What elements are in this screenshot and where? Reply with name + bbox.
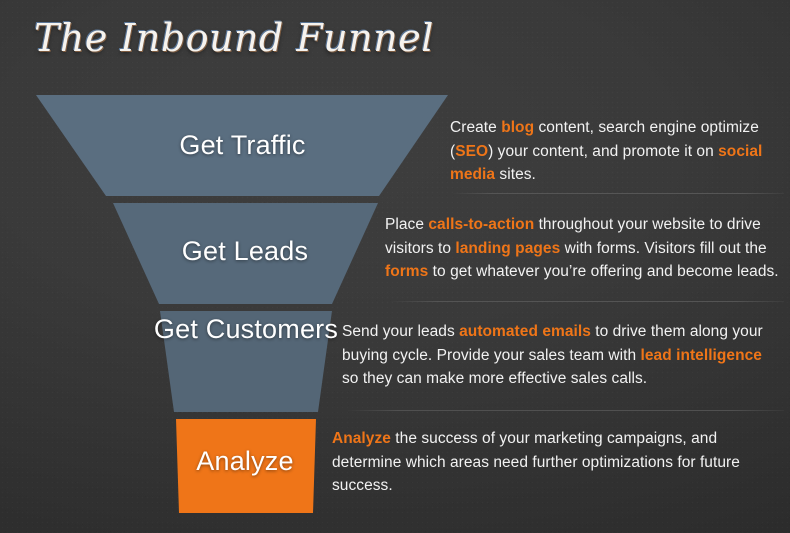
description-get-customers: Send your leads automated emails to driv…: [342, 320, 782, 391]
emphasis-term: landing pages: [455, 240, 560, 257]
description-divider-1: [452, 193, 784, 194]
funnel-stage-get-leads[interactable]: [113, 203, 378, 304]
emphasis-term: blog: [501, 119, 534, 136]
emphasis-term: lead intelligence: [641, 347, 762, 364]
emphasis-term: SEO: [455, 143, 488, 160]
emphasis-term: automated emails: [459, 323, 591, 340]
inbound-funnel-infographic: The Inbound Funnel Get Traffic Get Leads…: [0, 0, 790, 533]
emphasis-term: calls-to-action: [428, 216, 534, 233]
funnel-stage-analyze[interactable]: [176, 419, 316, 513]
emphasis-term: forms: [385, 263, 428, 280]
description-get-traffic: Create blog content, search engine optim…: [450, 116, 780, 187]
description-divider-3: [345, 410, 784, 411]
description-analyze: Analyze the success of your marketing ca…: [332, 427, 782, 498]
emphasis-term: social media: [450, 143, 762, 184]
description-divider-2: [390, 301, 784, 302]
funnel-stage-get-traffic[interactable]: [36, 95, 448, 196]
description-get-leads: Place calls-to-action throughout your we…: [385, 213, 780, 284]
funnel-stage-get-customers[interactable]: [160, 311, 332, 412]
emphasis-term: Analyze: [332, 430, 391, 447]
